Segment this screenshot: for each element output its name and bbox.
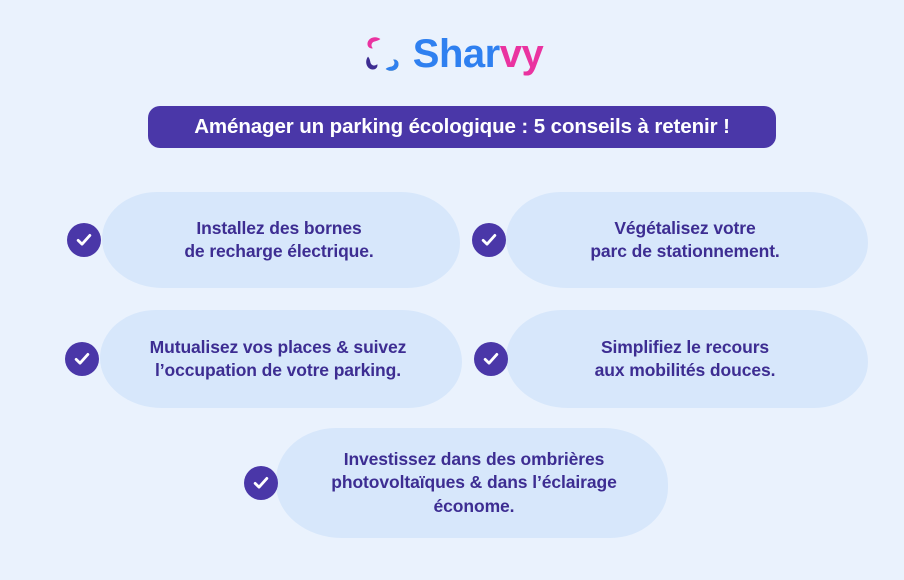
check-circle-icon (472, 223, 506, 257)
tip-card-5: Investissez dans des ombrières photovolt… (240, 428, 670, 538)
tips-list: Installez des bornes de recharge électri… (0, 180, 904, 560)
tip-card-4: Simplifiez le recours aux mobilités douc… (468, 310, 868, 408)
infographic-canvas: Sharvy Aménager un parking écologique : … (0, 0, 904, 580)
tip-text: Végétalisez votre parc de stationnement. (530, 217, 840, 263)
tip-card-2: Végétalisez votre parc de stationnement. (468, 192, 868, 288)
brand-logo: Sharvy (0, 24, 904, 84)
tip-card-3: Mutualisez vos places & suivez l’occupat… (62, 310, 462, 408)
check-circle-icon (474, 342, 508, 376)
tip-text: Investissez dans des ombrières photovolt… (300, 448, 648, 517)
brand-wordmark: Sharvy (413, 34, 543, 74)
tip-text: Installez des bornes de recharge électri… (129, 217, 429, 263)
check-circle-icon (244, 466, 278, 500)
tip-text: Simplifiez le recours aux mobilités douc… (530, 336, 840, 382)
brand-wordmark-part-1: Shar (413, 32, 500, 76)
title-banner: Aménager un parking écologique : 5 conse… (148, 106, 776, 148)
check-circle-icon (65, 342, 99, 376)
check-circle-icon (67, 223, 101, 257)
brand-wordmark-part-2: vy (500, 32, 544, 76)
tip-card-1: Installez des bornes de recharge électri… (64, 192, 460, 288)
tip-text: Mutualisez vos places & suivez l’occupat… (119, 336, 437, 382)
page-title: Aménager un parking écologique : 5 conse… (194, 116, 730, 139)
sharvy-pinwheel-logo-icon (361, 32, 405, 76)
